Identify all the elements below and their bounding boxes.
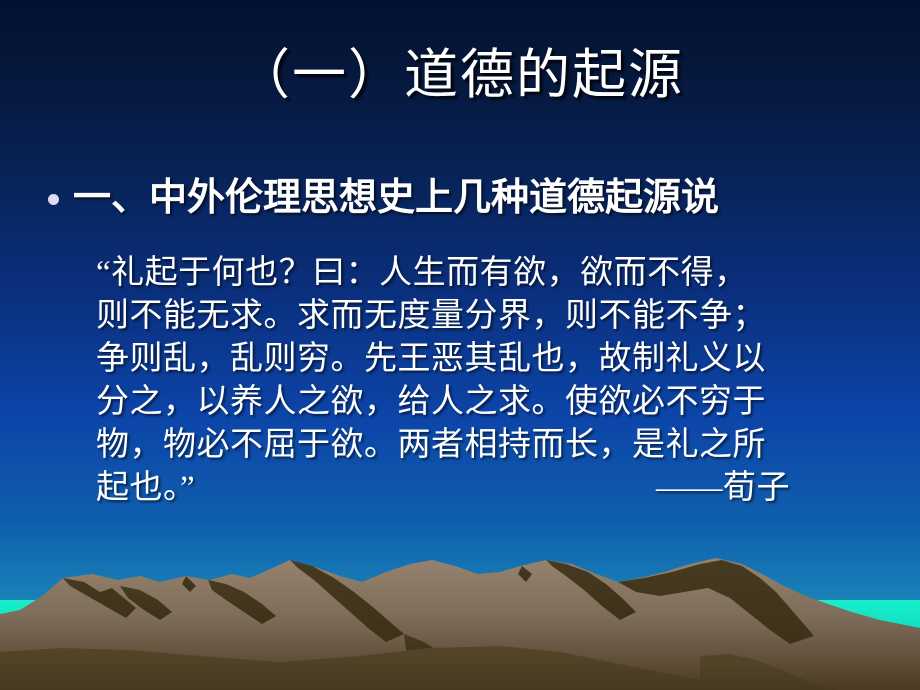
quote-line: 物，物必不屈于欲。两者相持而长，是礼之所 [96, 424, 836, 467]
mountain-range-illustration [0, 530, 920, 690]
quote-line-end: 起也。” [96, 467, 195, 510]
quote-line: “礼起于何也？曰：人生而有欲，欲而不得， [96, 252, 836, 295]
bullet-dot-icon [48, 194, 59, 205]
bullet-item: 一、中外伦理思想史上几种道德起源说 [48, 172, 908, 222]
presentation-slide: （一）道德的起源 一、中外伦理思想史上几种道德起源说 “礼起于何也？曰：人生而有… [0, 0, 920, 690]
quote-last-line-row: 起也。” ——荀子 [96, 467, 836, 510]
quotation-block: “礼起于何也？曰：人生而有欲，欲而不得， 则不能无求。求而无度量分界，则不能不争… [96, 252, 836, 510]
quote-line: 则不能无求。求而无度量分界，则不能不争； [96, 295, 836, 338]
quote-attribution: ——荀子 [656, 467, 836, 510]
quote-line: 争则乱，乱则穷。先王恶其乱也，故制礼义以 [96, 338, 836, 381]
bullet-item-label: 一、中外伦理思想史上几种道德起源说 [73, 172, 719, 222]
slide-title: （一）道德的起源 [0, 40, 920, 110]
quote-line: 分之，以养人之欲，给人之求。使欲必不穷于 [96, 381, 836, 424]
